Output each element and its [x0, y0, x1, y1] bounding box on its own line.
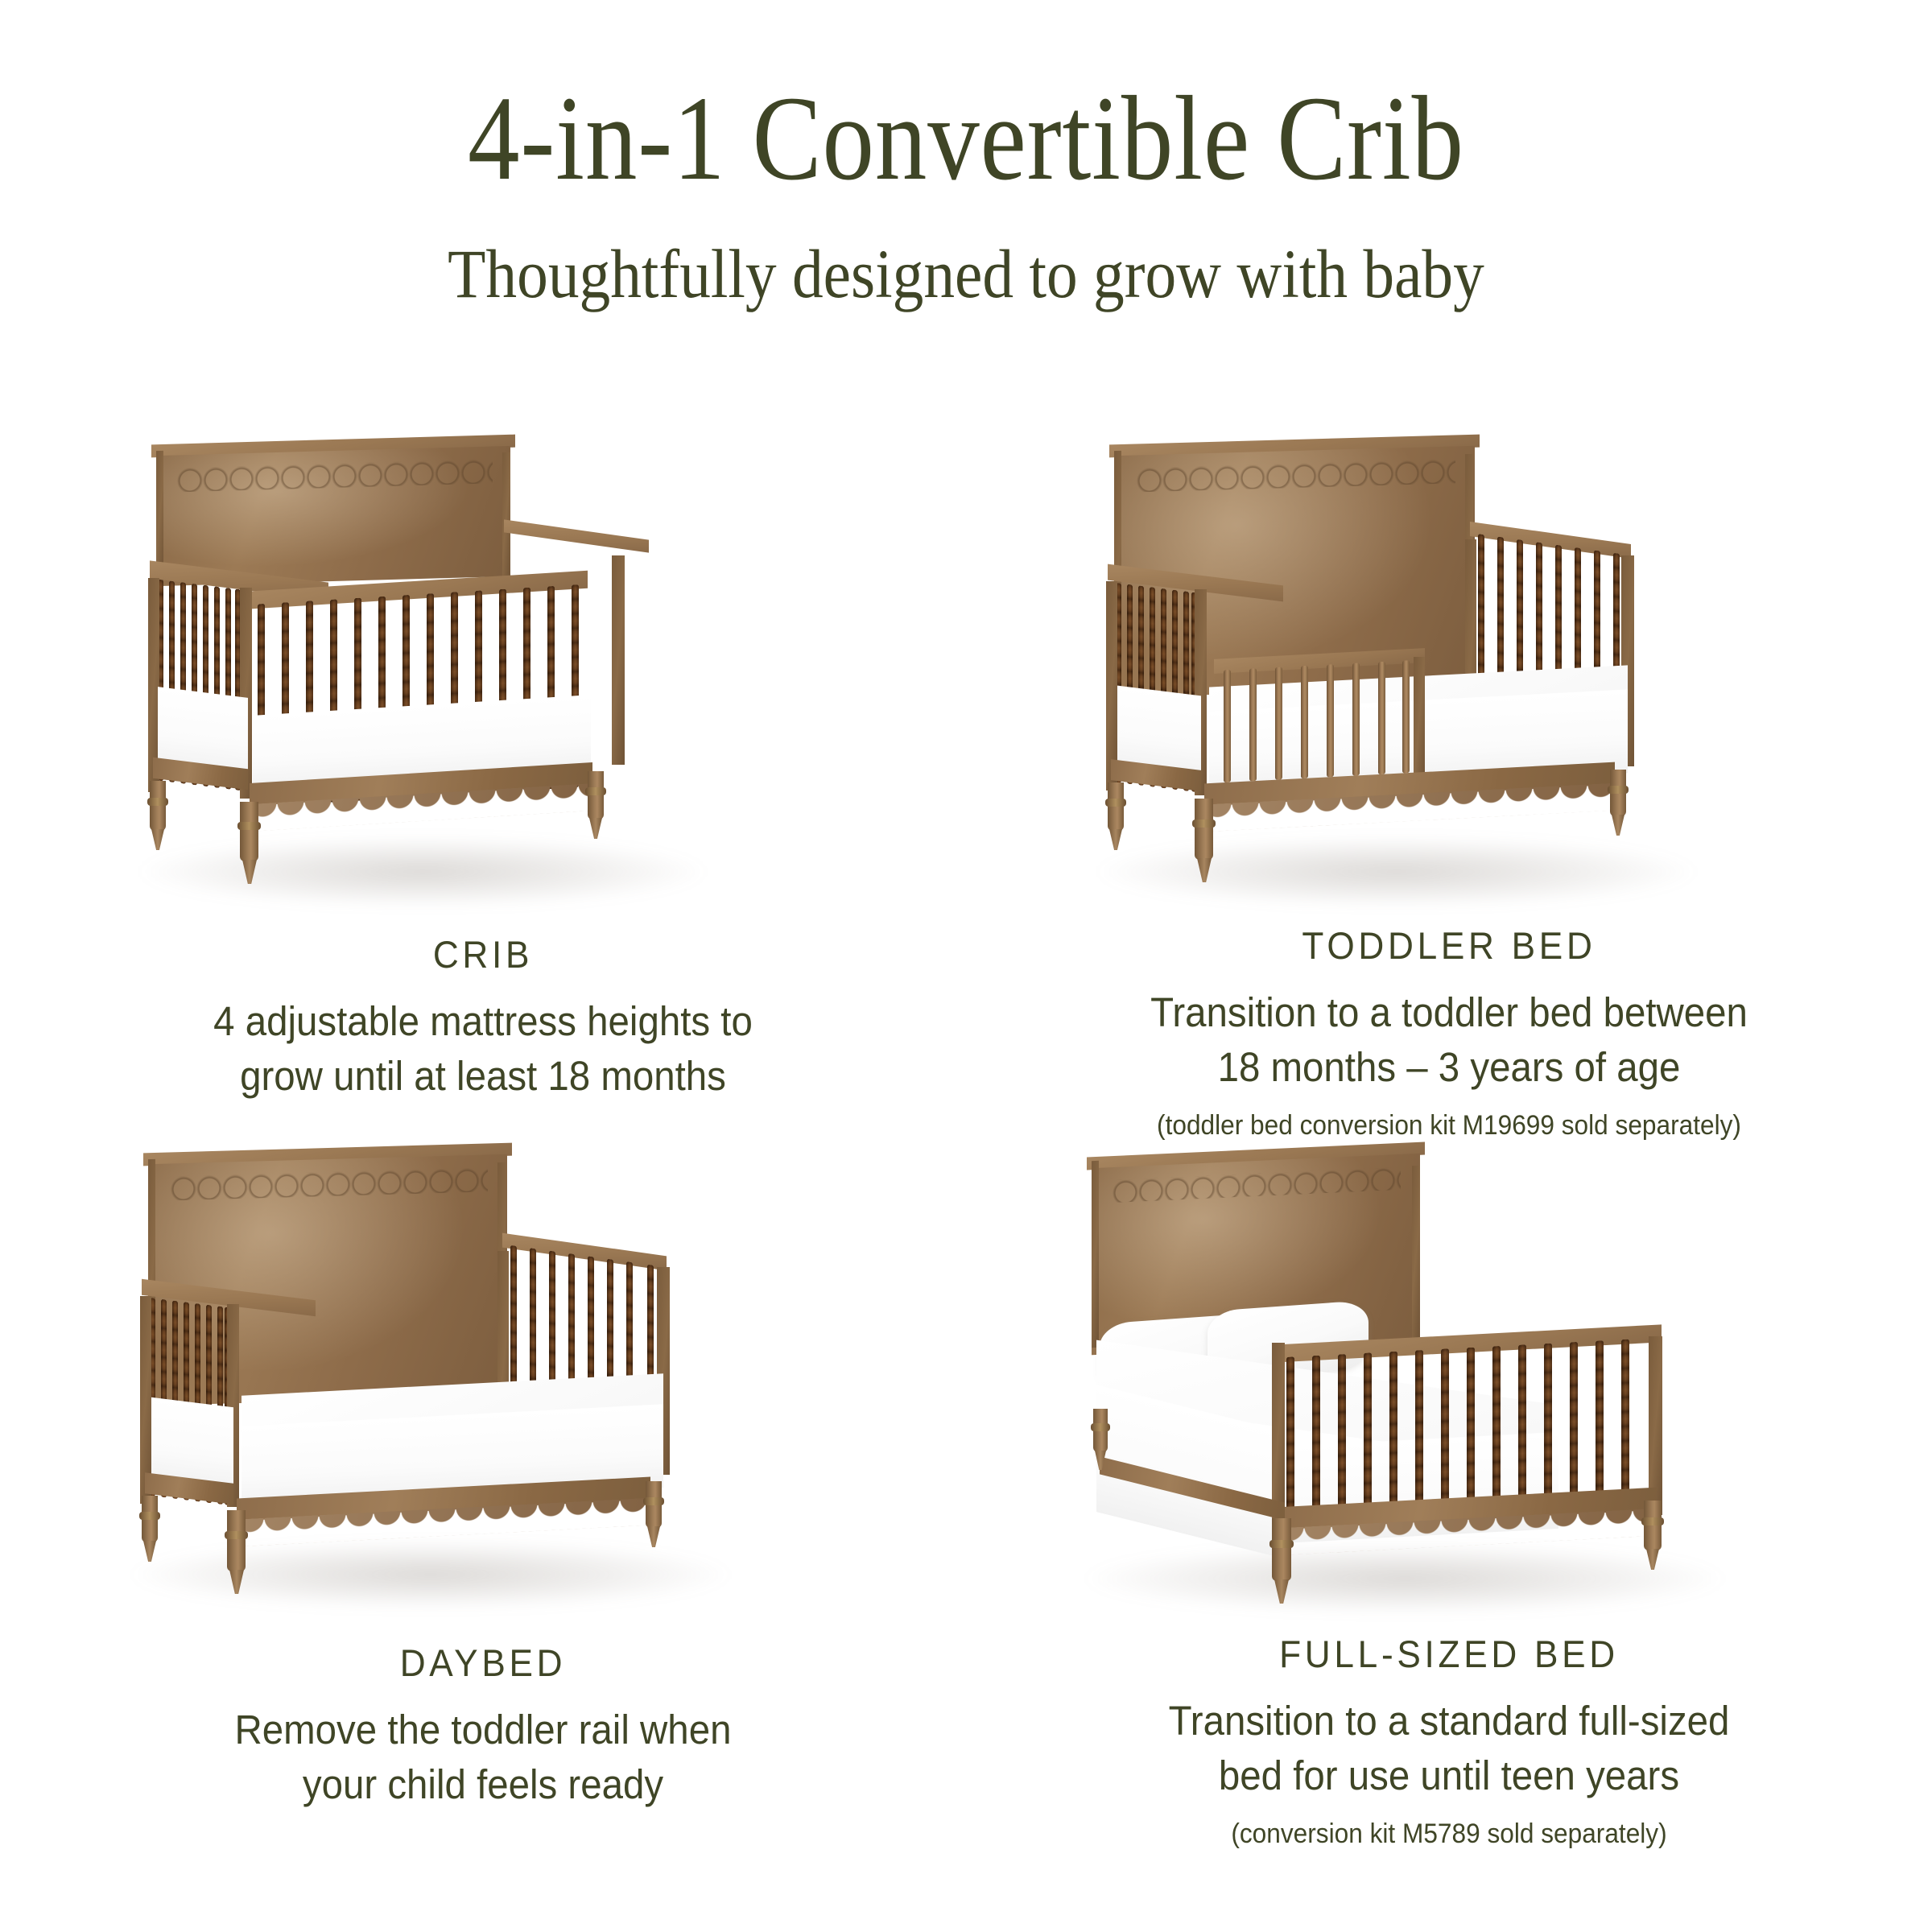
daybed-leg-front-center — [227, 1510, 246, 1571]
toddler-bed-caption-title: TODDLER BED — [1063, 923, 1835, 968]
toddler-bed-caption-line2: 18 months – 3 years of age — [1067, 1040, 1831, 1095]
crib-illustration — [56, 435, 910, 918]
conversion-modes-grid: CRIB 4 adjustable mattress heights to gr… — [0, 435, 1932, 1851]
full-bed-leg-front-right — [1644, 1501, 1662, 1550]
full-bed-floor-shadow — [1087, 1544, 1723, 1613]
toddler-bed-caption-line1: Transition to a toddler bed between — [1067, 985, 1831, 1040]
daybed-caption-title: DAYBED — [97, 1641, 869, 1685]
full-bed-headboard-left-stile — [1092, 1161, 1099, 1348]
mode-card-full-sized-bed: FULL-SIZED BED Transition to a standard … — [966, 1143, 1932, 1851]
toddler-guard-rail-slats — [1217, 659, 1422, 782]
toddler-bed-caption: TODDLER BED Transition to a toddler bed … — [1038, 923, 1860, 1143]
full-sized-bed-illustration — [1022, 1143, 1876, 1617]
full-sized-bed-caption-title: FULL-SIZED BED — [1063, 1632, 1835, 1676]
crib-leg-front-center — [240, 802, 258, 861]
full-sized-bed-caption-line2: bed for use until teen years — [1067, 1748, 1831, 1803]
full-sized-bed-caption-line1: Transition to a standard full-sized — [1067, 1694, 1831, 1748]
crib-caption: CRIB 4 adjustable mattress heights to gr… — [72, 932, 894, 1104]
toddler-leg-front-left — [1108, 782, 1124, 831]
daybed-floor-shadow — [133, 1541, 729, 1608]
daybed-leg-front-left — [142, 1496, 158, 1542]
page-subtitle: Thoughtfully designed to grow with baby — [97, 233, 1835, 316]
toddler-leg-front-center — [1195, 799, 1213, 860]
crib-caption-line1: 4 adjustable mattress heights to — [101, 994, 865, 1049]
crib-caption-title: CRIB — [97, 932, 869, 976]
mode-card-toddler-bed: TODDLER BED Transition to a toddler bed … — [966, 435, 1932, 1143]
daybed-caption-line2: your child feels ready — [101, 1757, 865, 1812]
crib-leg-front-left — [150, 781, 166, 831]
crib-leg-front-right — [588, 771, 604, 819]
full-bed-leg-front-left — [1272, 1518, 1291, 1581]
daybed-leg-front-right — [646, 1481, 662, 1528]
product-infographic: 4-in-1 Convertible Crib Thoughtfully des… — [0, 0, 1932, 1932]
crib-headboard-right-stile — [502, 452, 510, 580]
daybed-caption: DAYBED Remove the toddler rail when your… — [72, 1641, 894, 1812]
crib-back-top-rail — [504, 519, 649, 552]
full-sized-bed-caption: FULL-SIZED BED Transition to a standard … — [1038, 1632, 1860, 1851]
toddler-leg-front-right — [1610, 770, 1626, 816]
mode-card-crib: CRIB 4 adjustable mattress heights to gr… — [0, 435, 966, 1143]
toddler-bed-floor-shadow — [1099, 837, 1695, 906]
toddler-bed-illustration — [1022, 435, 1876, 909]
full-bed-leg-headboard-left — [1093, 1409, 1108, 1452]
mode-card-daybed: DAYBED Remove the toddler rail when your… — [0, 1143, 966, 1851]
toddler-guard-rail-end-post — [1414, 657, 1425, 787]
toddler-foot-front-right — [1612, 815, 1624, 836]
daybed-caption-line1: Remove the toddler rail when — [101, 1703, 865, 1757]
full-bed-headboard-right-stile — [1412, 1166, 1420, 1344]
toddler-bed-caption-note: (toddler bed conversion kit M19699 sold … — [1067, 1108, 1831, 1143]
crib-back-right-post — [612, 555, 625, 765]
crib-caption-line2: grow until at least 18 months — [101, 1049, 865, 1104]
header: 4-in-1 Convertible Crib Thoughtfully des… — [0, 77, 1932, 316]
full-sized-bed-caption-note: (conversion kit M5789 sold separately) — [1067, 1816, 1831, 1851]
daybed-illustration — [56, 1143, 910, 1626]
page-title: 4-in-1 Convertible Crib — [135, 77, 1797, 200]
crib-foot-front-right — [589, 818, 602, 839]
crib-floor-shadow — [141, 837, 704, 906]
